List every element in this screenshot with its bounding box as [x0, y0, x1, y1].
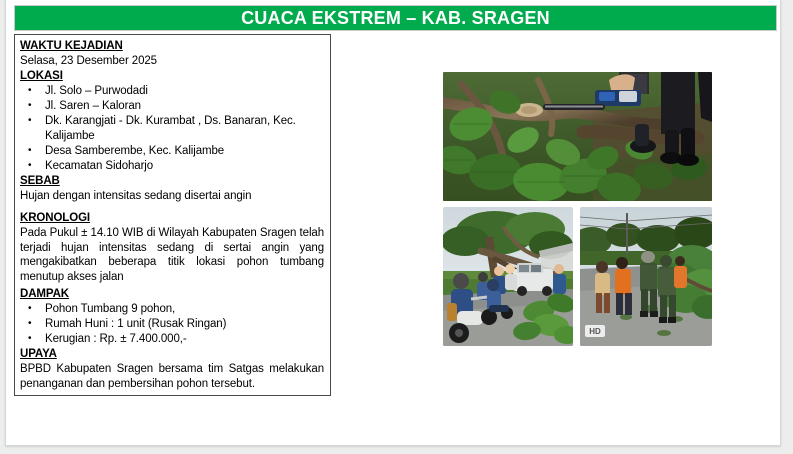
- photo-road-tree: [443, 207, 573, 346]
- list-item: Jl. Saren – Kaloran: [20, 99, 324, 114]
- section-text-waktu-kejadian: Selasa, 23 Desember 2025: [20, 54, 324, 69]
- photo-tni-road: HD: [580, 207, 712, 346]
- dampak-bullet-list: Pohon Tumbang 9 pohon, Rumah Huni : 1 un…: [20, 302, 324, 347]
- list-item: Kecamatan Sidoharjo: [20, 159, 324, 174]
- photo-road-tree-graphic: [443, 207, 573, 346]
- list-item: Kerugian : Rp. ± 7.400.000,-: [20, 332, 324, 347]
- svg-text:HD: HD: [589, 327, 601, 336]
- section-heading-dampak: DAMPAK: [20, 287, 324, 302]
- list-item: Rumah Huni : 1 unit (Rusak Ringan): [20, 317, 324, 332]
- section-heading-sebab: SEBAB: [20, 174, 324, 189]
- lokasi-bullet-list: Jl. Solo – Purwodadi Jl. Saren – Kaloran…: [20, 84, 324, 174]
- section-heading-kronologi: KRONOLOGI: [20, 211, 324, 226]
- section-text-kronologi: Pada Pukul ± 14.10 WIB di Wilayah Kabupa…: [20, 226, 324, 284]
- title-banner: CUACA EKSTREM – KAB. SRAGEN: [14, 5, 777, 31]
- section-heading-upaya: UPAYA: [20, 347, 324, 362]
- page-title: CUACA EKSTREM – KAB. SRAGEN: [241, 8, 550, 29]
- list-item: Pohon Tumbang 9 pohon,: [20, 302, 324, 317]
- list-item: Desa Samberembe, Kec. Kalijambe: [20, 144, 324, 159]
- slide-viewport: CUACA EKSTREM – KAB. SRAGEN WAKTU KEJADI…: [0, 0, 793, 454]
- section-heading-waktu-kejadian: WAKTU KEJADIAN: [20, 39, 324, 54]
- photo-chainsaw: [443, 72, 712, 201]
- section-heading-lokasi: LOKASI: [20, 69, 324, 84]
- photo-tni-road-graphic: HD: [580, 207, 712, 346]
- info-text-box: WAKTU KEJADIAN Selasa, 23 Desember 2025 …: [14, 34, 331, 396]
- section-text-sebab: Hujan dengan intensitas sedang disertai …: [20, 189, 324, 204]
- photo-chainsaw-graphic: [443, 72, 712, 201]
- list-item: Jl. Solo – Purwodadi: [20, 84, 324, 99]
- section-text-upaya: BPBD Kabupaten Sragen bersama tim Satgas…: [20, 362, 324, 391]
- list-item: Dk. Karangjati - Dk. Kurambat , Ds. Bana…: [20, 114, 324, 144]
